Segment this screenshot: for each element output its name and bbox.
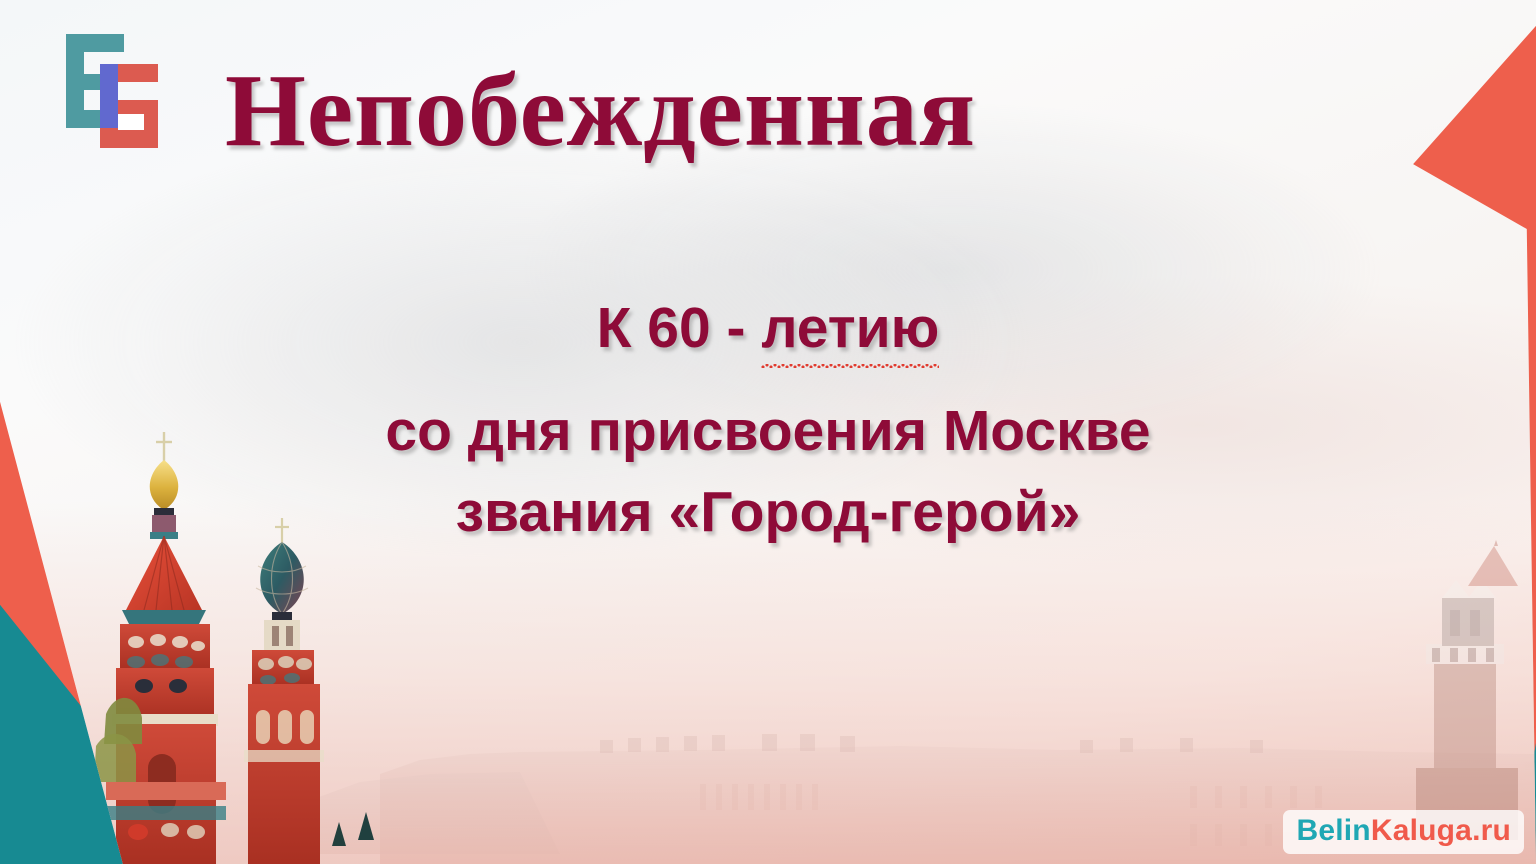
kremlin-tower-image [1398,540,1518,840]
logo-overlap [100,64,118,128]
watermark[interactable]: BelinKaluga.ru [1283,810,1524,854]
slide-subtitle-block: К 60 - летию со дня присвоения Москве зв… [0,288,1536,553]
watermark-part-kaluga: Kaluga.ru [1371,814,1511,847]
subtitle-line-3: звания «Город-герой» [0,472,1536,553]
belinkaluga-logo[interactable] [62,30,180,150]
subtitle-line-1-prefix: К 60 - [597,296,762,360]
subtitle-line-1: К 60 - летию [0,288,1536,369]
page-title: Непобежденная [225,58,1355,164]
subtitle-line-2: со дня присвоения Москве [0,391,1536,472]
subtitle-line-1-misspelled-word: летию [761,288,939,369]
watermark-part-belin: Belin [1296,814,1370,847]
presentation-slide: Непобежденная К 60 - летию со дня присво… [0,0,1536,864]
